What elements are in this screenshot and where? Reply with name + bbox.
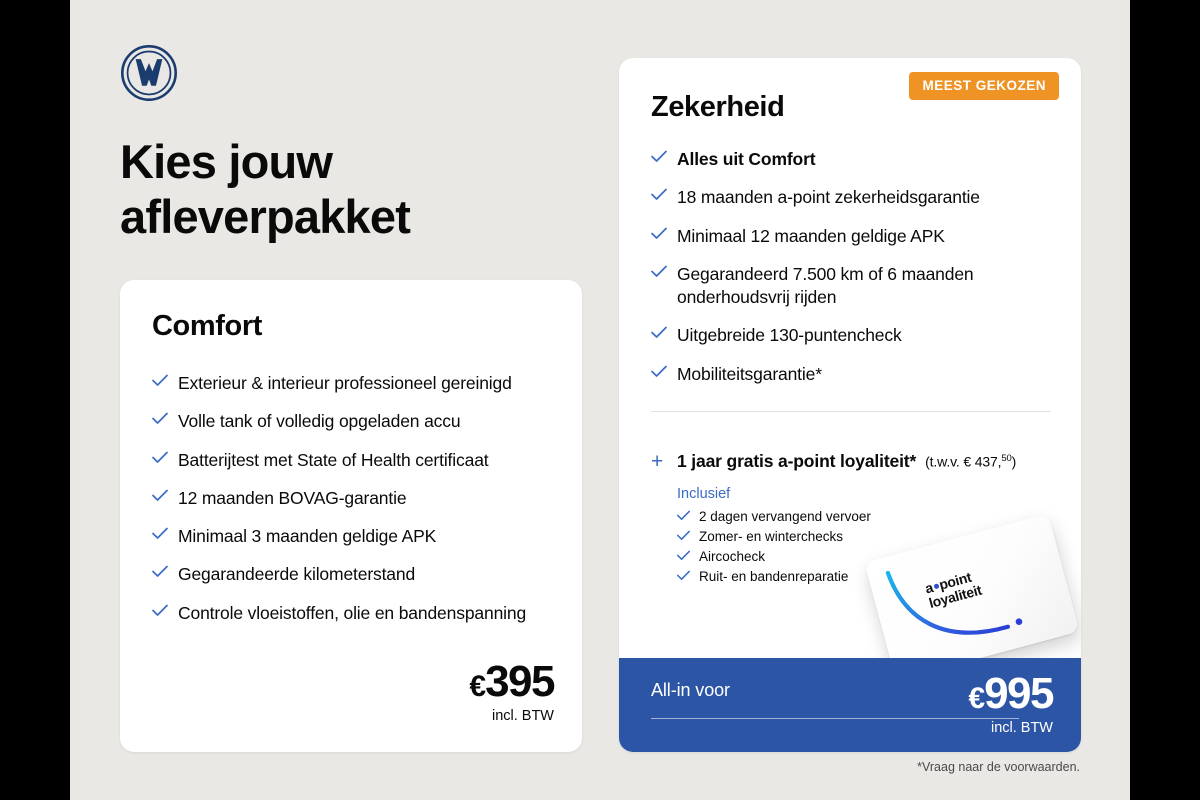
feature-text: Gegarandeerd 7.500 km of 6 maanden onder… <box>677 263 1053 310</box>
check-icon <box>677 570 699 581</box>
check-icon <box>651 265 677 278</box>
check-icon <box>152 412 178 425</box>
loyalty-value-prefix: (t.w.v. € 437, <box>925 454 1001 470</box>
feature-text: 18 maanden a-point zekerheidsgarantie <box>677 186 980 209</box>
check-icon <box>152 604 178 617</box>
list-item: 12 maanden BOVAG-garantie <box>152 487 552 510</box>
check-icon <box>651 365 677 378</box>
package-card-zekerheid: MEEST GEKOZEN Zekerheid Alles uit Comfor… <box>619 58 1081 752</box>
price: € 995 <box>968 672 1053 716</box>
check-icon <box>651 150 677 163</box>
zekerheid-price-block: € 995 incl. BTW <box>968 672 1053 736</box>
list-item: Mobiliteitsgarantie* <box>651 363 1053 386</box>
check-icon <box>152 451 178 464</box>
check-icon <box>651 326 677 339</box>
comfort-title: Comfort <box>152 310 262 343</box>
plus-icon: + <box>651 451 677 472</box>
list-item: Exterieur & interieur professioneel gere… <box>152 372 552 395</box>
feature-text: Minimaal 12 maanden geldige APK <box>677 225 945 248</box>
check-icon <box>152 489 178 502</box>
zekerheid-price-footer: All-in voor € 995 incl. BTW <box>619 658 1081 752</box>
volkswagen-logo-icon <box>120 44 178 102</box>
loyalty-addon-value: (t.w.v. € 437,50) <box>925 453 1016 470</box>
feature-text: Mobiliteitsgarantie* <box>677 363 822 386</box>
currency-symbol: € <box>968 684 984 714</box>
page-title: Kies jouw afleverpakket <box>120 134 580 245</box>
divider <box>651 411 1051 412</box>
check-icon <box>152 527 178 540</box>
letterbox-bar-right <box>1130 0 1200 800</box>
feature-text: Minimaal 3 maanden geldige APK <box>178 525 436 548</box>
list-item: Volle tank of volledig opgeladen accu <box>152 410 552 433</box>
check-icon <box>677 510 699 521</box>
page-stage: Kies jouw afleverpakket Comfort Exterieu… <box>70 0 1130 800</box>
list-item: Uitgebreide 130-puntencheck <box>651 324 1053 347</box>
feature-text: Gegarandeerde kilometerstand <box>178 563 415 586</box>
check-icon <box>651 188 677 201</box>
loyalty-addon-title: 1 jaar gratis a-point loyaliteit* <box>677 451 916 472</box>
comfort-price-block: € 395 incl. BTW <box>469 660 554 724</box>
list-item: Gegarandeerde kilometerstand <box>152 563 552 586</box>
vat-note: incl. BTW <box>469 708 554 724</box>
vat-note: incl. BTW <box>968 720 1053 736</box>
feature-text: Exterieur & interieur professioneel gere… <box>178 372 512 395</box>
comfort-feature-list: Exterieur & interieur professioneel gere… <box>152 372 552 640</box>
loyalty-addon-header: + 1 jaar gratis a-point loyaliteit* (t.w… <box>651 450 1061 472</box>
footer-label: All-in voor <box>651 680 730 701</box>
currency-symbol: € <box>469 672 485 702</box>
sub-feature-text: 2 dagen vervangend vervoer <box>699 509 871 524</box>
letterbox-bar-left <box>0 0 70 800</box>
check-icon <box>152 565 178 578</box>
price: € 395 <box>469 660 554 704</box>
check-icon <box>651 227 677 240</box>
loyalty-value-suffix: ) <box>1012 454 1017 470</box>
footnote: *Vraag naar de voorwaarden. <box>917 760 1080 774</box>
package-card-comfort: Comfort Exterieur & interieur profession… <box>120 280 582 752</box>
list-item: 18 maanden a-point zekerheidsgarantie <box>651 186 1053 209</box>
feature-text: 12 maanden BOVAG-garantie <box>178 487 406 510</box>
footer-rule <box>651 718 1019 719</box>
list-item: Gegarandeerd 7.500 km of 6 maanden onder… <box>651 263 1053 310</box>
feature-text: Batterijtest met State of Health certifi… <box>178 449 489 472</box>
zekerheid-title: Zekerheid <box>651 91 784 124</box>
sub-feature-text: Aircocheck <box>699 549 765 564</box>
loyalty-value-cents: 50 <box>1001 453 1011 464</box>
list-item: Minimaal 3 maanden geldige APK <box>152 525 552 548</box>
list-item: Batterijtest met State of Health certifi… <box>152 449 552 472</box>
feature-text: Volle tank of volledig opgeladen accu <box>178 410 460 433</box>
check-icon <box>677 530 699 541</box>
price-amount: 395 <box>485 660 554 704</box>
check-icon <box>152 374 178 387</box>
zekerheid-feature-list: Alles uit Comfort 18 maanden a-point zek… <box>651 148 1053 401</box>
list-item: Minimaal 12 maanden geldige APK <box>651 225 1053 248</box>
inclusief-label: Inclusief <box>677 486 1061 502</box>
list-item: 2 dagen vervangend vervoer <box>677 509 1061 524</box>
sub-feature-text: Zomer- en winterchecks <box>699 529 843 544</box>
list-item: Alles uit Comfort <box>651 148 1053 171</box>
feature-text: Alles uit Comfort <box>677 148 815 171</box>
price-amount: 995 <box>984 672 1053 716</box>
list-item: Controle vloeistoffen, olie en bandenspa… <box>152 602 552 625</box>
sub-feature-text: Ruit- en bandenreparatie <box>699 569 848 584</box>
feature-text: Uitgebreide 130-puntencheck <box>677 324 902 347</box>
check-icon <box>677 550 699 561</box>
feature-text: Controle vloeistoffen, olie en bandenspa… <box>178 602 526 625</box>
status-badge: MEEST GEKOZEN <box>909 72 1059 100</box>
